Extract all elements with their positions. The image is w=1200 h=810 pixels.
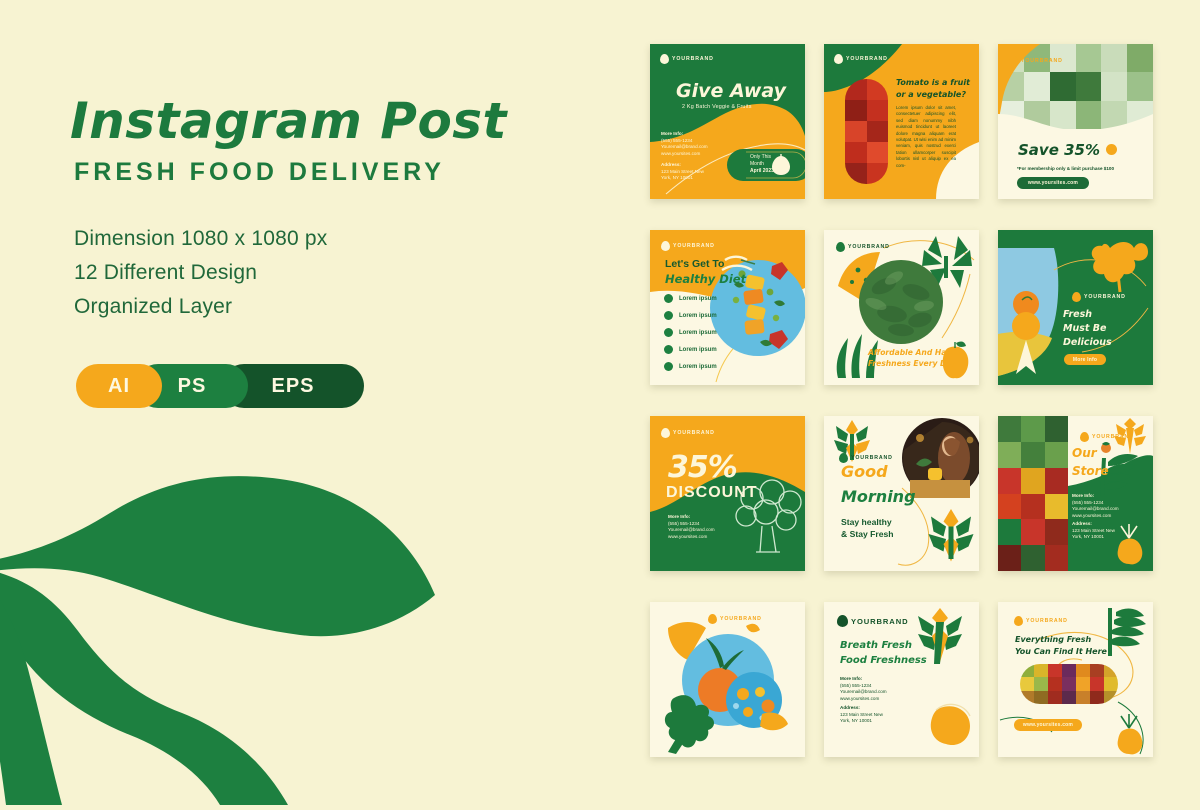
left-info-panel: Instagram Post FRESH FOOD DELIVERY Dimen… (0, 0, 620, 799)
card-headline: Fresh Must Be Delicious (1063, 308, 1112, 350)
headline-line-2: Healthy Diet (665, 272, 746, 286)
phone-value: (555) 555-1234 (840, 683, 887, 690)
brand-lockup: YOURBRAND (661, 241, 715, 251)
website-cta-button[interactable]: www.yoursites.com (1014, 719, 1082, 731)
brand-lockup: YOURBRAND (1080, 432, 1134, 442)
more-info-label: More Info: (1072, 493, 1119, 500)
card-save-35[interactable]: YOURBRAND Save 35% *For membership only … (998, 44, 1153, 199)
headline-line-1: Affordable And Has (868, 347, 956, 358)
brand-lockup: YOURBRAND (661, 428, 715, 438)
list-item: Lorem ipsum (664, 324, 717, 341)
avocado-droplet-logo (837, 615, 848, 627)
brand-name: YOURBRAND (1084, 294, 1126, 300)
spec-item-dimension: Dimension 1080 x 1080 px (74, 222, 327, 256)
bullet-dot-icon (664, 362, 673, 371)
list-item: Lorem ipsum (664, 358, 717, 375)
list-item-label: Lorem ipsum (679, 347, 717, 353)
brand-lockup: YOURBRAND (836, 242, 890, 252)
headline-line-1: Our (1072, 444, 1109, 462)
brand-lockup: YOURBRAND (1009, 56, 1063, 66)
promo-line-3: April 2023 (750, 168, 774, 175)
bullet-dot-icon (664, 294, 673, 303)
card-healthy-diet[interactable]: YOURBRAND Let's Get To Healthy Diet Lore… (650, 230, 805, 385)
address-line-2: York, NY 10001 (1072, 534, 1115, 541)
headline-line-1: Tomato is a fruit (896, 77, 970, 89)
address-line-2: York, NY 10001 (840, 718, 883, 725)
brand-lockup: YOURBRAND (834, 54, 888, 64)
avocado-droplet-logo (661, 428, 670, 438)
headline-line-1: Let's Get To (665, 258, 746, 270)
card-affordable-freshness[interactable]: YOURBRAND Affordable And Has Freshness E… (824, 230, 979, 385)
tomatoes-photo (845, 79, 888, 184)
card-orange-visual[interactable]: YOURBRAND (650, 602, 805, 757)
card-headline: Breath Fresh Food Freshness (840, 638, 927, 668)
bullet-dot-icon (664, 345, 673, 354)
tagline-line-1: Stay healthy (841, 516, 894, 528)
website-value[interactable]: www.yoursites.com (840, 696, 887, 703)
more-info-label: More Info: (661, 131, 708, 138)
card-body-text: Lorem ipsum dolor sit amet, consectetuer… (896, 105, 956, 169)
spec-item-layers: Organized Layer (74, 290, 327, 324)
avocado-droplet-logo (1072, 292, 1081, 302)
contact-more-info: More Info: (555) 555-1234 Youremail@bran… (661, 131, 708, 157)
card-tagline: Stay healthy & Stay Fresh (841, 516, 894, 540)
phone-value: (555) 555-1234 (1072, 500, 1119, 507)
poster-canvas: Instagram Post FRESH FOOD DELIVERY Dimen… (0, 0, 1200, 799)
bullet-dot-icon (664, 328, 673, 337)
headline-line-2: Food Freshness (840, 653, 927, 668)
fruit-market-photo (1020, 664, 1118, 704)
brand-lockup: YOURBRAND (1072, 292, 1126, 302)
avocado-droplet-logo (1009, 56, 1018, 66)
headline-line-2: Must Be (1063, 322, 1112, 336)
brand-name: YOURBRAND (851, 455, 893, 461)
promo-badge: Only This Month April 2023 (750, 154, 774, 175)
card-everything-fresh[interactable]: YOURBRAND Everything Fresh You Can Find … (998, 602, 1153, 757)
brand-name: YOURBRAND (673, 430, 715, 436)
card-breath-fresh[interactable]: YOURBRAND Breath Fresh Food Freshness Mo… (824, 602, 979, 757)
promo-line-1: Only This (750, 154, 774, 161)
card-35-discount[interactable]: YOURBRAND 35% DISCOUNT More Info: (555) … (650, 416, 805, 571)
leaf-branch-illustration (0, 455, 440, 805)
list-item: Lorem ipsum (664, 341, 717, 358)
spec-item-designs: 12 Different Design (74, 256, 327, 290)
headline-line-2: or a vegetable? (896, 89, 970, 101)
bullet-list: Lorem ipsum Lorem ipsum Lorem ipsum Lore… (664, 290, 717, 375)
brand-name: YOURBRAND (851, 617, 908, 626)
email-value: Youremail@brand.com (668, 527, 715, 534)
avocado-droplet-logo (708, 614, 717, 624)
design-preview-grid: YOURBRAND Give Away 2 Kg Batch Veggie & … (650, 44, 1153, 757)
list-item: Lorem ipsum (664, 290, 717, 307)
list-item-label: Lorem ipsum (679, 296, 717, 302)
avocado-droplet-logo (836, 242, 845, 252)
card-headline: Save 35% (1018, 141, 1100, 159)
address-line-1: 123 Main Street New (840, 712, 883, 719)
card-headline: Tomato is a fruit or a vegetable? (896, 77, 970, 101)
contact-more-info: More Info: (555) 555-1234 Youremail@bran… (1072, 493, 1119, 519)
card-headline: Everything Fresh You Can Find It Here (1015, 634, 1107, 658)
headline-line-1: Breath Fresh (840, 638, 927, 653)
brand-name: YOURBRAND (1021, 58, 1063, 64)
format-badge-group: AI PS EPS (76, 364, 364, 408)
avocado-droplet-logo (1014, 616, 1023, 626)
brand-name: YOURBRAND (672, 56, 714, 62)
card-headline: Affordable And Has Freshness Every Day (868, 347, 956, 369)
address-line-1: 123 Main Street New (661, 169, 704, 176)
avocado-droplet-logo (661, 241, 670, 251)
more-info-label: More Info: (840, 676, 887, 683)
brand-lockup: YOURBRAND (837, 615, 908, 627)
brand-name: YOURBRAND (846, 56, 888, 62)
page-title: Instagram Post (70, 92, 507, 150)
headline-line-1: Everything Fresh (1015, 634, 1107, 646)
card-headline: Our Store (1072, 444, 1109, 480)
spec-list: Dimension 1080 x 1080 px 12 Different De… (74, 222, 327, 324)
more-info-label: More Info: (668, 514, 715, 521)
headline-line-2: You Can Find It Here (1015, 646, 1107, 658)
tagline-line-2: & Stay Fresh (841, 528, 894, 540)
bullet-dot-icon (664, 311, 673, 320)
phone-value: (555) 555-1234 (661, 138, 708, 145)
headline-line-3: Delicious (1063, 336, 1112, 350)
card-overlay-shapes (998, 44, 1153, 199)
brand-lockup: YOURBRAND (708, 614, 762, 624)
card-good-morning[interactable]: YOURBRAND Good Morning Stay healthy & St… (824, 416, 979, 571)
card-give-away[interactable]: YOURBRAND Give Away 2 Kg Batch Veggie & … (650, 44, 805, 199)
avocado-droplet-logo (1080, 432, 1089, 442)
website-value[interactable]: www.yoursites.com (1072, 513, 1119, 520)
brand-lockup: YOURBRAND (660, 54, 714, 64)
website-value[interactable]: www.yoursites.com (661, 151, 708, 158)
email-value: Youremail@brand.com (840, 689, 887, 696)
contact-address: Address: 123 Main Street New York, NY 10… (1072, 521, 1115, 541)
format-badge-ai[interactable]: AI (76, 364, 162, 408)
list-item-label: Lorem ipsum (679, 313, 717, 319)
address-line-2: York, NY 10001 (661, 175, 704, 182)
card-subhead: 2 Kg Batch Veggie & Fruits (682, 104, 752, 110)
brand-name: YOURBRAND (848, 244, 890, 250)
website-value[interactable]: www.yoursites.com (668, 534, 715, 541)
list-item-label: Lorem ipsum (679, 364, 717, 370)
avocado-droplet-logo (660, 54, 669, 64)
orange-fruit-icon (1106, 144, 1117, 155)
card-fresh-delicious[interactable]: YOURBRAND Fresh Must Be Delicious More I… (998, 230, 1153, 385)
card-headline: Give Away (676, 80, 786, 102)
headline-line-1: Fresh (1063, 308, 1112, 322)
address-label: Address: (840, 705, 883, 712)
discount-percent: 35% (668, 450, 737, 485)
brand-lockup: YOURBRAND (1014, 616, 1068, 626)
promo-line-2: Month (750, 161, 774, 168)
headline-line-2: Morning (841, 487, 916, 506)
headline-line-1: Good (841, 462, 888, 481)
discount-word: DISCOUNT (666, 484, 758, 502)
list-item-label: Lorem ipsum (679, 330, 717, 336)
page-subtitle: FRESH FOOD DELIVERY (74, 158, 445, 187)
address-line-1: 123 Main Street New (1072, 528, 1115, 535)
website-cta-button[interactable]: www.yoursites.com (1017, 177, 1089, 189)
phone-value: (555) 555-1234 (668, 521, 715, 528)
email-value: Youremail@brand.com (661, 144, 708, 151)
brand-name: YOURBRAND (673, 243, 715, 249)
headline-line-2: Store (1072, 462, 1109, 480)
address-label: Address: (1072, 521, 1115, 528)
more-info-button[interactable]: More Info (1064, 354, 1106, 365)
headline-line-2: Freshness Every Day (868, 358, 956, 369)
contact-more-info: More Info: (555) 555-1234 Youremail@bran… (668, 514, 715, 540)
contact-more-info: More Info: (555) 555-1234 Youremail@bran… (840, 676, 887, 702)
brand-name: YOURBRAND (1026, 618, 1068, 624)
list-item: Lorem ipsum (664, 307, 717, 324)
address-label: Address: (661, 162, 704, 169)
contact-address: Address: 123 Main Street New York, NY 10… (661, 162, 704, 182)
brand-name: YOURBRAND (720, 616, 762, 622)
brand-name: YOURBRAND (1092, 434, 1134, 440)
card-note: *For membership only & limit purchase $1… (1017, 166, 1114, 171)
card-headline: Let's Get To Healthy Diet (665, 258, 746, 286)
avocado-droplet-logo (834, 54, 843, 64)
card-our-store[interactable]: YOURBRAND Our Store More Info: (555) 555… (998, 416, 1153, 571)
contact-address: Address: 123 Main Street New York, NY 10… (840, 705, 883, 725)
card-background (650, 602, 805, 757)
email-value: Youremail@brand.com (1072, 506, 1119, 513)
card-tomato-article[interactable]: Tomato is a fruit or a vegetable? Lorem … (824, 44, 979, 199)
